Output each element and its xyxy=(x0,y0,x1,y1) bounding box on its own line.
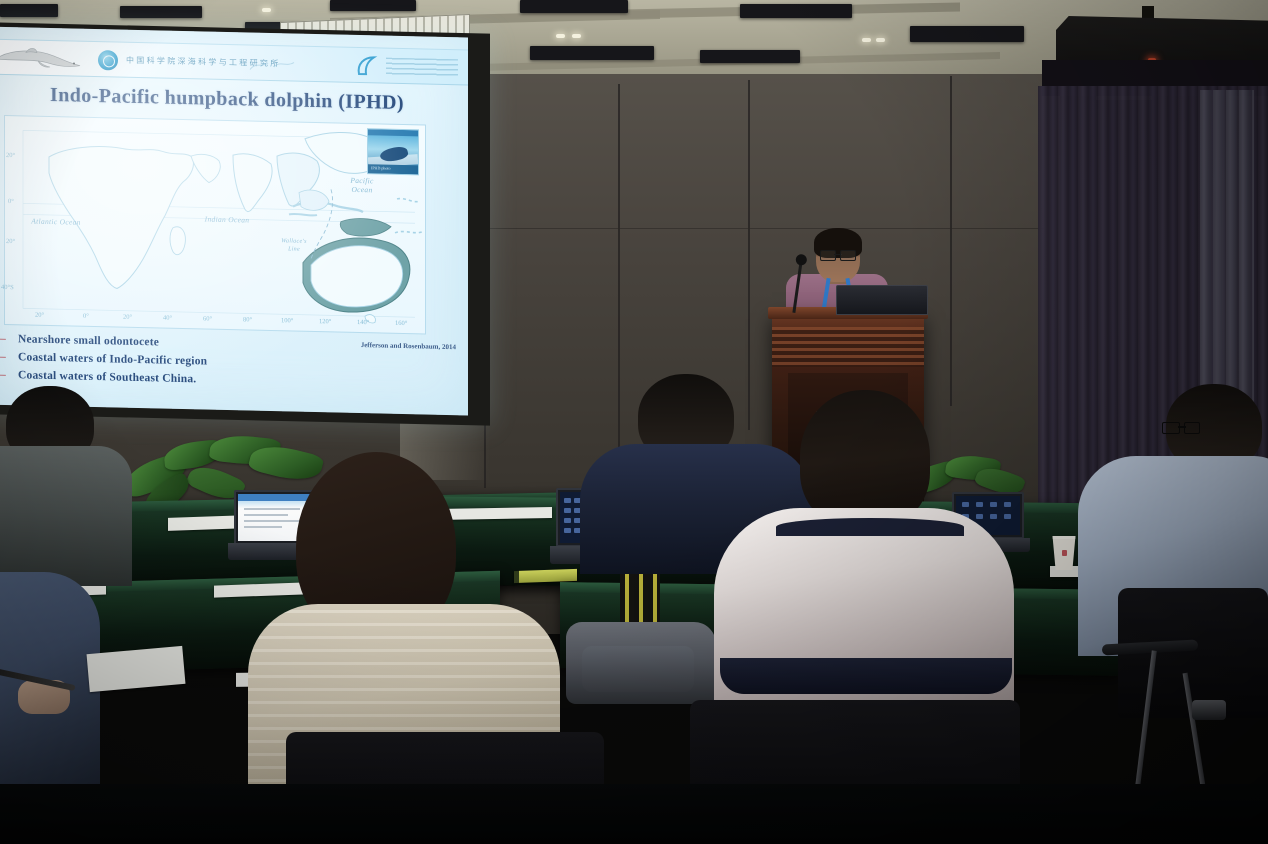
person-torso xyxy=(714,508,1014,728)
ocean-label-pacific: Pacific Ocean xyxy=(339,176,385,196)
lon-label: 160° xyxy=(395,320,407,327)
lon-label: 60° xyxy=(203,315,212,322)
floor xyxy=(0,784,1268,844)
institute-seal-icon xyxy=(98,50,118,70)
ocean-label-indian: Indian Ocean xyxy=(197,214,257,225)
ceiling-light xyxy=(862,38,871,42)
ceiling-panel xyxy=(530,46,654,60)
paper-sheet[interactable] xyxy=(87,646,186,692)
notebook[interactable] xyxy=(514,569,577,583)
lat-label: 20° xyxy=(6,152,15,159)
ceiling-panel xyxy=(700,50,800,63)
ceiling-panel xyxy=(330,0,416,11)
organization-text-block xyxy=(386,58,458,78)
polo-hem-band xyxy=(720,658,1012,694)
ceiling-panel xyxy=(0,4,58,17)
backpack[interactable] xyxy=(566,622,716,704)
slide-bullet-list: Nearshore small odontocete Coastal water… xyxy=(0,331,460,395)
polo-collar xyxy=(776,518,964,536)
lon-label: 80° xyxy=(243,316,252,323)
lon-label: 140° xyxy=(357,319,369,326)
chair-knob[interactable] xyxy=(1192,700,1226,720)
ceiling-panel xyxy=(120,6,202,18)
ceiling-light xyxy=(572,34,581,38)
wall-seam xyxy=(950,76,952,406)
eyeglasses-icon xyxy=(820,250,856,259)
inset-caption: IPHD photo xyxy=(371,165,390,170)
distribution-map: Atlantic Ocean Indian Ocean Pacific Ocea… xyxy=(4,115,426,335)
ceiling-light xyxy=(556,34,565,38)
lat-label: 0° xyxy=(8,198,14,205)
lon-label: 20° xyxy=(35,312,44,319)
ceiling-panel xyxy=(910,26,1024,42)
dolphin-illustration-icon xyxy=(0,46,90,72)
lon-label: 40° xyxy=(163,315,172,322)
wall-seam xyxy=(618,84,620,494)
ocean-label-atlantic: Atlantic Ocean xyxy=(29,217,83,228)
lon-label: 20° xyxy=(123,314,132,321)
wallaces-line-label: Wallace's Line xyxy=(275,238,313,254)
slide-banner: 中国科学院深海科学与工程研究所 xyxy=(0,39,468,86)
person-torso xyxy=(0,446,132,586)
lat-label: 40°S xyxy=(1,284,14,291)
eyeglasses-icon xyxy=(1162,422,1200,432)
slide-title: Indo-Pacific humpback dolphin (IPHD) xyxy=(0,83,468,117)
ceiling-panel xyxy=(520,0,628,13)
wall-seam xyxy=(748,80,750,430)
lon-label: 120° xyxy=(319,318,331,325)
flying-bird-icon xyxy=(244,57,304,76)
paper-sheet[interactable] xyxy=(436,507,552,520)
projected-slide: 中国科学院深海科学与工程研究所 Indo-Pacific humpback do… xyxy=(0,27,468,416)
conference-room-photo: 中国科学院深海科学与工程研究所 Indo-Pacific humpback do… xyxy=(0,0,1268,844)
dolphin-photo-inset: IPHD photo xyxy=(367,128,419,175)
lectern-wood-grain xyxy=(772,327,924,367)
ceiling-light xyxy=(262,8,271,12)
wall-seam xyxy=(484,228,1044,229)
ceiling-light xyxy=(876,38,885,42)
presenter-laptop[interactable] xyxy=(836,285,928,315)
dolphin-logo-icon xyxy=(354,54,380,79)
lat-label: 20° xyxy=(6,238,15,245)
ceiling-panel xyxy=(740,4,852,18)
lon-label: 0° xyxy=(83,313,89,320)
lon-label: 100° xyxy=(281,317,293,324)
backpack-flap xyxy=(582,646,694,692)
